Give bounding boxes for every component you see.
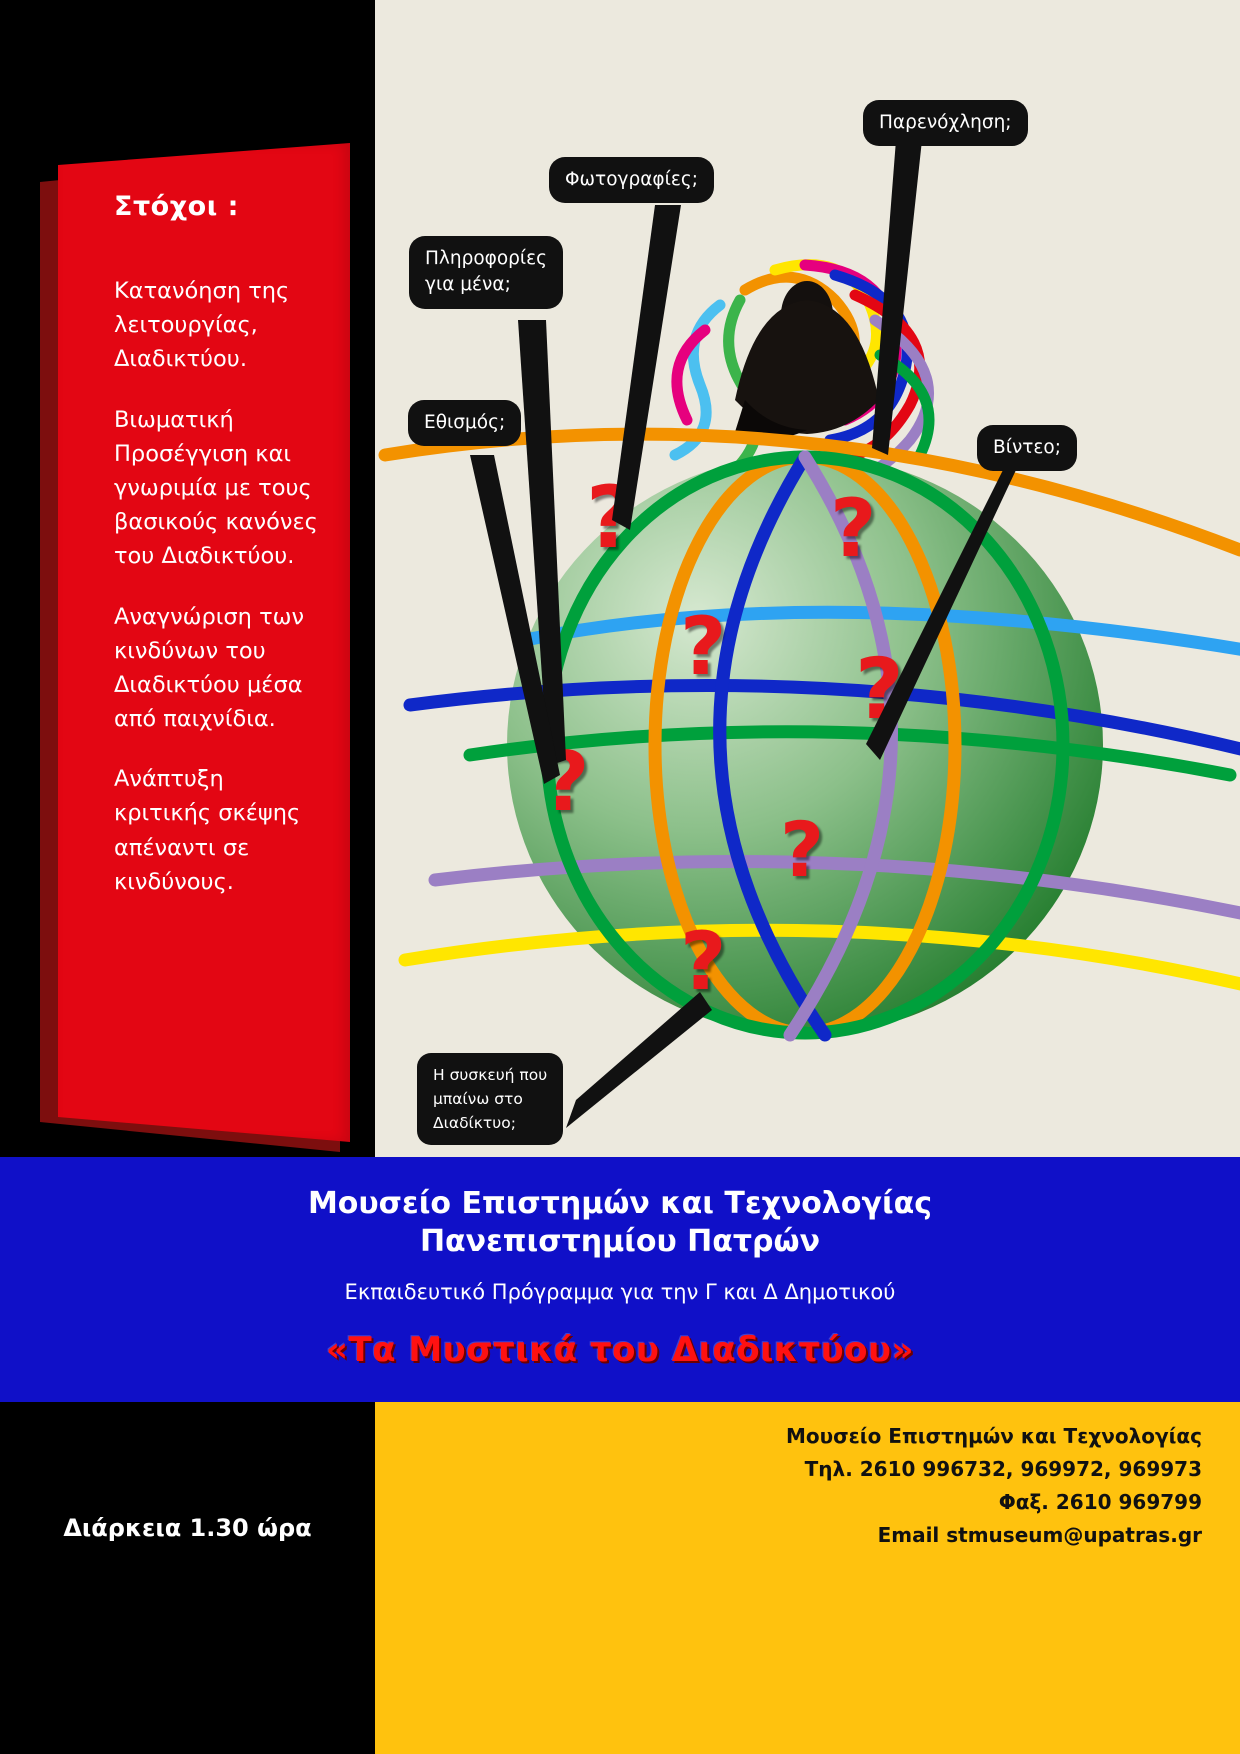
bubble-video[interactable]: Βίντεο;	[977, 425, 1077, 471]
organization-line-2: Πανεπιστημίου Πατρών	[0, 1223, 1240, 1261]
objective-item: Κατανόηση της λειτουργίας, Διαδικτύου.	[114, 274, 324, 377]
objective-item: Βιωματική Προσέγγιση και γνωριμία με του…	[114, 403, 324, 574]
organization-line-1: Μουσείο Επιστημών και Τεχνολογίας	[0, 1185, 1240, 1223]
contact-block: Μουσείο Επιστημών και Τεχνολογίας Τηλ. 2…	[375, 1402, 1240, 1754]
globe-question-mark: ?	[830, 482, 876, 575]
globe-question-mark: ?	[586, 468, 636, 568]
bubble-device[interactable]: Η συσκευή που μπαίνω στο Διαδίκτυο;	[417, 1053, 563, 1145]
objective-item: Ανάπτυξη κριτικής σκέψης απέναντι σε κιν…	[114, 762, 324, 899]
contact-line: Φαξ. 2610 969799	[375, 1486, 1202, 1519]
globe-question-mark: ?	[542, 735, 590, 830]
objective-item: Αναγνώριση των κινδύνων του Διαδικτύου μ…	[114, 600, 324, 737]
bubble-info-about-me[interactable]: Πληροφορίες για μένα;	[409, 236, 563, 309]
globe-question-mark: ?	[780, 805, 824, 894]
globe-question-mark: ?	[680, 600, 726, 693]
bubble-harassment[interactable]: Παρενόχληση;	[863, 100, 1028, 146]
footer-blue-band: Μουσείο Επιστημών και Τεχνολογίας Πανεπι…	[0, 1157, 1240, 1402]
contact-email: Email stmuseum@upatras.gr	[375, 1519, 1202, 1552]
globe-illustration: ? ? ? ? ? ? ?	[375, 0, 1240, 1157]
duration-label: Διάρκεια 1.30 ώρα	[0, 1402, 375, 1754]
objectives-content: Στόχοι : Κατανόηση της λειτουργίας, Διαδ…	[58, 143, 350, 1142]
contact-line: Τηλ. 2610 996732, 969972, 969973	[375, 1453, 1202, 1486]
avatar-head-silhouette	[735, 281, 879, 440]
program-subtitle: Εκπαιδευτικό Πρόγραμμα για την Γ και Δ Δ…	[0, 1280, 1240, 1304]
contact-line: Μουσείο Επιστημών και Τεχνολογίας	[375, 1420, 1202, 1453]
poster-root: ? ? ? ? ? ? ? Παρενόχληση; Φωτογραφίες; …	[0, 0, 1240, 1754]
illustration-canvas: ? ? ? ? ? ? ?	[375, 0, 1240, 1157]
poster-main-title: «Τα Μυστικά του Διαδικτύου»	[0, 1330, 1240, 1370]
globe-svg	[375, 0, 1240, 1157]
globe-question-mark: ?	[855, 640, 904, 738]
objectives-title: Στόχοι :	[114, 191, 324, 222]
bubble-addiction[interactable]: Εθισμός;	[408, 400, 521, 446]
bubble-photos[interactable]: Φωτογραφίες;	[549, 157, 714, 203]
globe-question-mark: ?	[680, 915, 726, 1008]
